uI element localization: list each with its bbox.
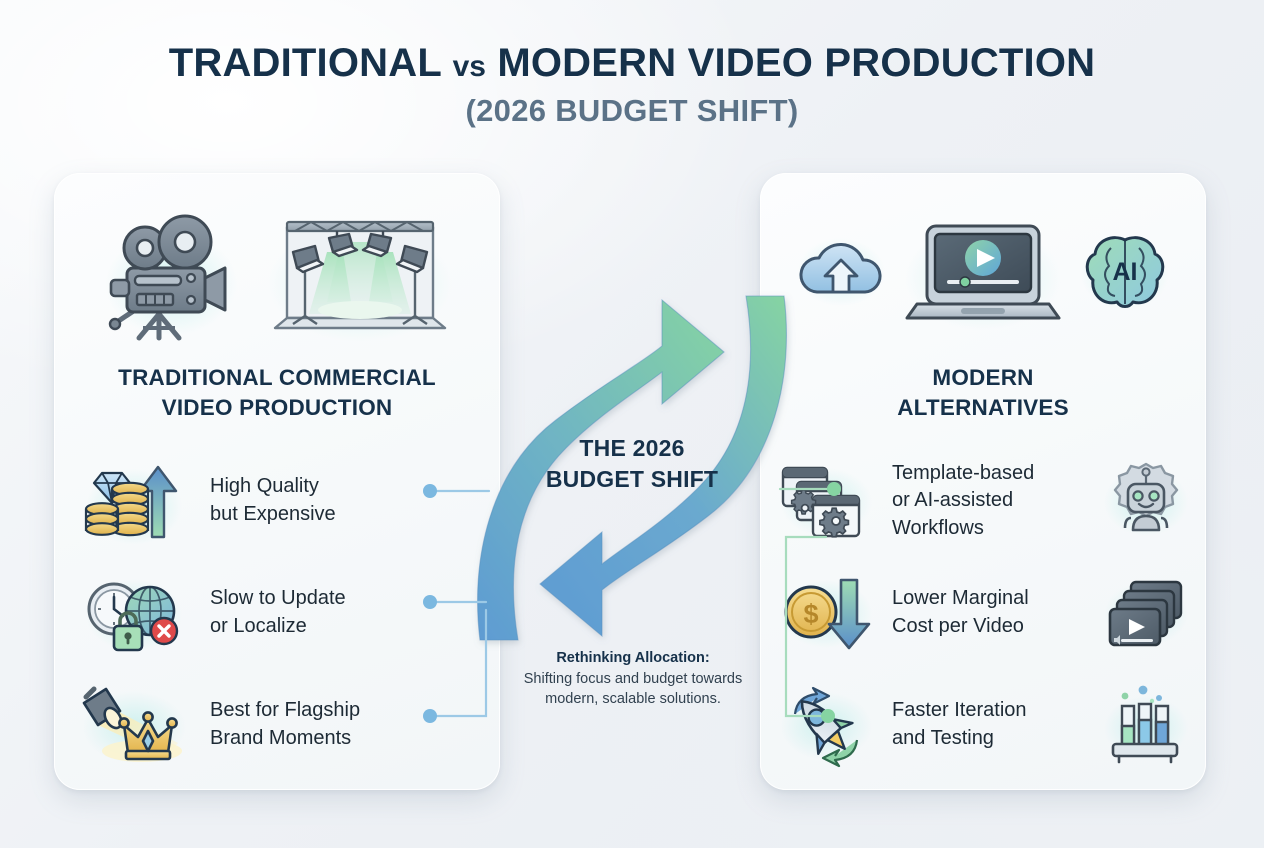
title-main-after: MODERN VIDEO PRODUCTION [497, 41, 1095, 85]
feature-label: Template-based or AI-assisted Workflows [876, 460, 1096, 543]
feature-row-lower-cost: $ Lower Marginal Cost per Video [760, 557, 1206, 669]
center-note: Rethinking Allocation: Shifting focus an… [505, 648, 761, 710]
feature-label-line2: Brand Moments [210, 727, 351, 749]
feature-label-line1: Best for Flagship [210, 699, 360, 721]
clock-lock-globe-icon [84, 569, 184, 657]
feature-label: Best for Flagship Brand Moments [188, 697, 474, 752]
center-heading-line2: BUDGET SHIFT [546, 466, 718, 492]
feature-label-line1: Slow to Update [210, 587, 346, 609]
feature-label: High Quality but Expensive [188, 473, 474, 528]
title-block: TRADITIONAL vs MODERN VIDEO PRODUCTION (… [0, 42, 1264, 129]
right-hero-icons: AI [760, 201, 1206, 351]
feature-row-faster-iteration: Faster Iteration and Testing [760, 669, 1206, 781]
page-subtitle: (2026 BUDGET SHIFT) [0, 93, 1264, 129]
left-heading-line2: VIDEO PRODUCTION [162, 395, 393, 420]
right-heading-line2: ALTERNATIVES [897, 395, 1069, 420]
feature-icon-right-slot [1096, 455, 1196, 547]
test-tubes-icon [1103, 682, 1189, 768]
panel-modern: AI MODERN ALTERNATIVES [760, 173, 1206, 790]
video-stack-icon [1103, 570, 1189, 656]
feature-icon-slot [80, 455, 188, 547]
feature-icon-slot [80, 679, 188, 771]
title-main-before: TRADITIONAL [169, 41, 442, 85]
feature-label-line1: High Quality [210, 475, 319, 497]
center-heading: THE 2026 BUDGET SHIFT [497, 433, 767, 495]
feature-row-flagship: Best for Flagship Brand Moments [54, 669, 500, 781]
page-title: TRADITIONAL vs MODERN VIDEO PRODUCTION [0, 42, 1264, 85]
feature-label: Faster Iteration and Testing [876, 697, 1096, 752]
feature-icon-slot [776, 455, 876, 547]
spotlight-crown-icon [80, 681, 188, 769]
right-panel-heading: MODERN ALTERNATIVES [760, 363, 1206, 422]
title-vs: vs [453, 50, 486, 83]
feature-label-line1: Lower Marginal [892, 587, 1029, 609]
feature-label-line2: Cost per Video [892, 615, 1024, 637]
panel-traditional: TRADITIONAL COMMERCIAL VIDEO PRODUCTION [54, 173, 500, 790]
cloud-upload-icon [795, 226, 887, 326]
feature-row-high-quality: High Quality but Expensive [54, 445, 500, 557]
ai-brain-icon: AI [1079, 226, 1171, 326]
center-heading-line1: THE 2026 [579, 435, 684, 461]
ai-brain-label: AI [1113, 258, 1138, 286]
feature-label-line2: or AI-assisted [892, 489, 1013, 511]
studio-lighting-rig-icon [265, 206, 455, 346]
feature-label-line3: Workflows [892, 517, 984, 539]
feature-label: Lower Marginal Cost per Video [876, 585, 1096, 640]
feature-icon-slot [80, 567, 188, 659]
rocket-cycle-icon [779, 682, 873, 768]
dollar-sign-glyph: $ [803, 599, 818, 629]
feature-label: Slow to Update or Localize [188, 585, 474, 640]
left-feature-rows: High Quality but Expensive [54, 445, 500, 781]
feature-label-line1: Template-based [892, 462, 1034, 484]
infographic-canvas: TRADITIONAL vs MODERN VIDEO PRODUCTION (… [0, 0, 1264, 848]
feature-icon-slot: $ [776, 567, 876, 659]
right-feature-rows: Template-based or AI-assisted Workflows [760, 445, 1206, 781]
film-camera-icon [99, 206, 249, 346]
stacked-windows-gears-icon [779, 458, 873, 544]
laptop-video-player-icon [903, 216, 1063, 336]
feature-icon-slot [776, 679, 876, 771]
center-note-body: Shifting focus and budget towards modern… [524, 671, 742, 708]
feature-label-line2: and Testing [892, 727, 994, 749]
feature-label-line1: Faster Iteration [892, 699, 1027, 721]
feature-row-slow-update: Slow to Update or Localize [54, 557, 500, 669]
center-note-bold: Rethinking Allocation: [556, 650, 709, 666]
right-heading-line1: MODERN [932, 365, 1033, 390]
robot-gear-icon [1103, 458, 1189, 544]
feature-icon-right-slot [1096, 567, 1196, 659]
left-hero-icons [54, 201, 500, 351]
diamond-coins-uparrow-icon [84, 457, 184, 545]
coin-downarrow-icon: $ [779, 570, 873, 656]
feature-label-line2: but Expensive [210, 503, 336, 525]
feature-icon-right-slot [1096, 679, 1196, 771]
left-heading-line1: TRADITIONAL COMMERCIAL [118, 365, 436, 390]
left-panel-heading: TRADITIONAL COMMERCIAL VIDEO PRODUCTION [54, 363, 500, 422]
feature-row-templates: Template-based or AI-assisted Workflows [760, 445, 1206, 557]
feature-label-line2: or Localize [210, 615, 307, 637]
